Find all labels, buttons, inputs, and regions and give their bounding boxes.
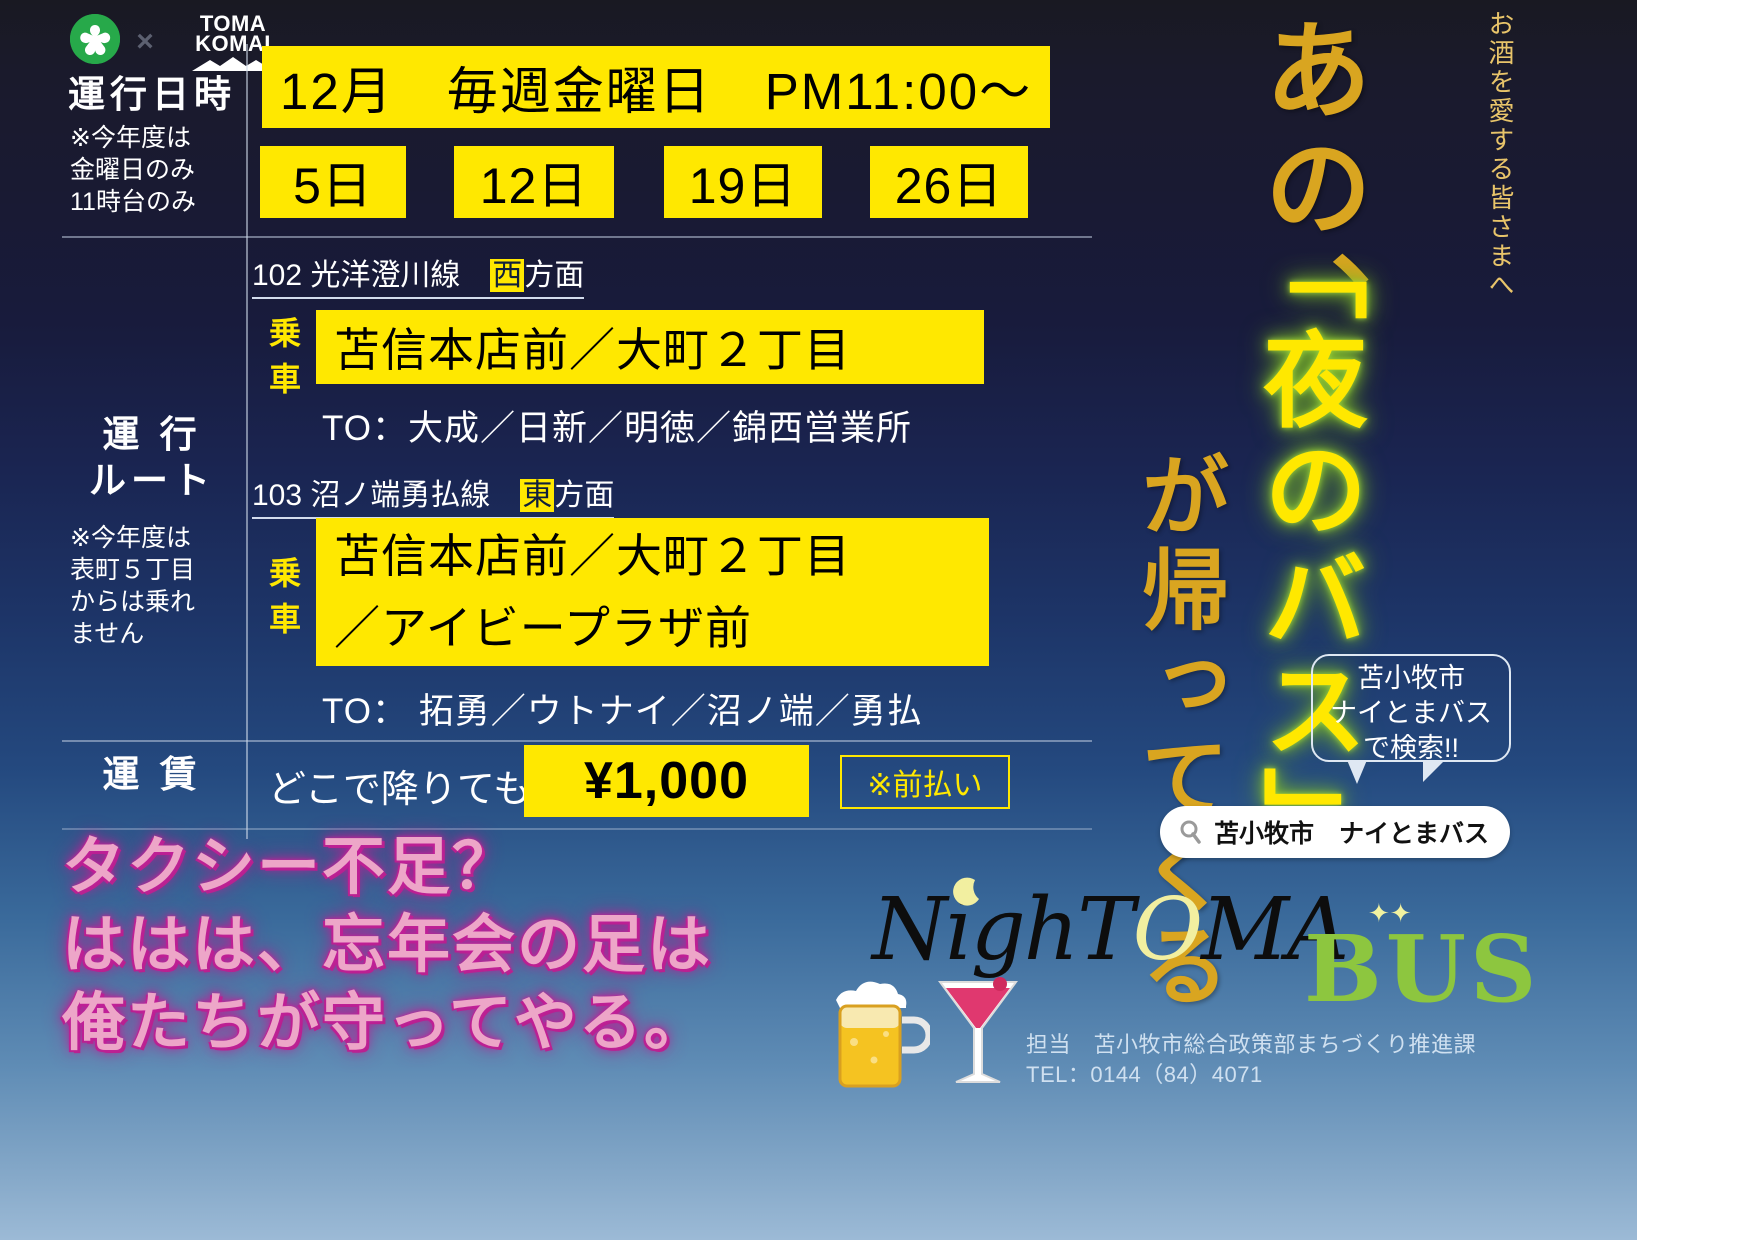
catch-copy-line3: 俺たちが守ってやる。 [62,984,902,1062]
bubble-line3: で検索!! [1313,731,1509,766]
catch-copy: タクシー不足？ ははは、忘年会の足は 俺たちが守ってやる。 [62,828,902,1062]
day-chip: 19日 [664,146,822,218]
wordmark-t: T [1077,880,1132,980]
bubble-line1: 苫小牧市 [1313,661,1509,696]
route-heading-102: 102 光洋澄川線 西方面 [252,250,584,299]
route-heading-prefix: 102 光洋澄川線 [252,259,490,292]
day-chip: 12日 [454,146,614,218]
bubble-tail-right [1423,760,1445,782]
catch-copy-line1: タクシー不足？ [62,828,902,906]
route-direction-highlight: 東 [520,479,554,512]
cross-icon: × [130,27,160,57]
bubble-line2: ナイとまバス [1313,696,1509,731]
schedule-banner: 12月 毎週金曜日 PM11:00～ [262,46,1050,128]
boarding-stops-103-line2: ／アイビープラザ前 [334,592,989,664]
boarding-label: 乗車 [262,550,308,642]
search-hint-bubble: 苫小牧市 ナイとまバス で検索!! [1311,654,1511,762]
catch-copy-line2: ははは、忘年会の足は [62,906,902,984]
boarding-stops-103: 苫信本店前／大町２丁目 ／アイビープラザ前 [316,518,989,666]
route-heading-suffix: 方面 [554,479,614,512]
schedule-note: ※今年度は 金曜日のみ 11時台のみ [62,122,242,218]
day-chip: 5日 [260,146,406,218]
search-query-text: 苫小牧市 ナイとまバス [1214,814,1489,850]
fare-label: 運 賃 [62,752,242,798]
row-label-fare: 運 賃 [62,752,242,798]
vertical-divider [246,44,248,839]
nightoma-wordmark: NighTOMA [872,880,1347,980]
cocktail-glass-icon [930,966,1026,1098]
contact-info: 担当 苫小牧市総合政策部まちづくり推進課 TEL：0144（84）4071 [1026,1030,1476,1090]
route-heading-103: 103 沼ノ端勇払線 東方面 [252,470,614,519]
route-heading-suffix: 方面 [524,259,584,292]
route-note: ※今年度は 表町５丁目 からは乗れ ません [62,522,242,650]
route-label-line1: 運 行 [62,412,242,458]
destinations-102: TO：大成／日新／明徳／錦西営業所 [322,400,912,451]
prepayment-badge: ※前払い [840,755,1010,809]
row-label-schedule: 運行日時 ※今年度は 金曜日のみ 11時台のみ [62,72,242,218]
intro-vertical-text: お酒を愛する皆さまへ [1482,10,1519,300]
schedule-label: 運行日時 [62,72,242,118]
crescent-moon-icon [950,876,984,910]
route-direction-highlight: 西 [490,259,524,292]
row-label-route: 運 行 ルート ※今年度は 表町５丁目 からは乗れ ません [62,412,242,650]
boarding-stops-102: 苫信本店前／大町２丁目 [316,310,984,384]
poster-canvas: × TOMA KOMAI 運行日時 ※今年度は 金曜日のみ 11時台のみ 12月… [0,0,1637,1240]
route-heading-prefix: 103 沼ノ端勇払線 [252,479,520,512]
divider-route-fare [62,740,1092,742]
wordmark-o: O [1133,880,1202,980]
search-box[interactable]: 苫小牧市 ナイとまバス [1160,806,1510,858]
poster-root: × TOMA KOMAI 運行日時 ※今年度は 金曜日のみ 11時台のみ 12月… [0,0,1755,1240]
sparkle-icon: ✦✦ [1368,898,1412,929]
bus-wordmark: BUS [1304,915,1540,1023]
beer-mug-icon [818,968,930,1098]
ja-group-logo-icon [70,14,120,64]
search-icon [1178,819,1204,845]
destinations-103: TO： 拓勇／ウトナイ／沼ノ端／勇払 [322,683,923,734]
bubble-tail-left [1347,760,1367,784]
route-label-line2: ルート [62,458,242,504]
day-chip: 26日 [870,146,1028,218]
boarding-stops-103-line1: 苫信本店前／大町２丁目 [334,520,989,592]
contact-line1: 担当 苫小牧市総合政策部まちづくり推進課 [1026,1030,1476,1060]
divider-schedule-route [62,236,1092,238]
fare-amount: ¥1,000 [524,745,809,817]
fare-description: どこで降りても [268,758,531,813]
contact-line2: TEL：0144（84）4071 [1026,1060,1476,1090]
boarding-label: 乗車 [262,310,308,402]
